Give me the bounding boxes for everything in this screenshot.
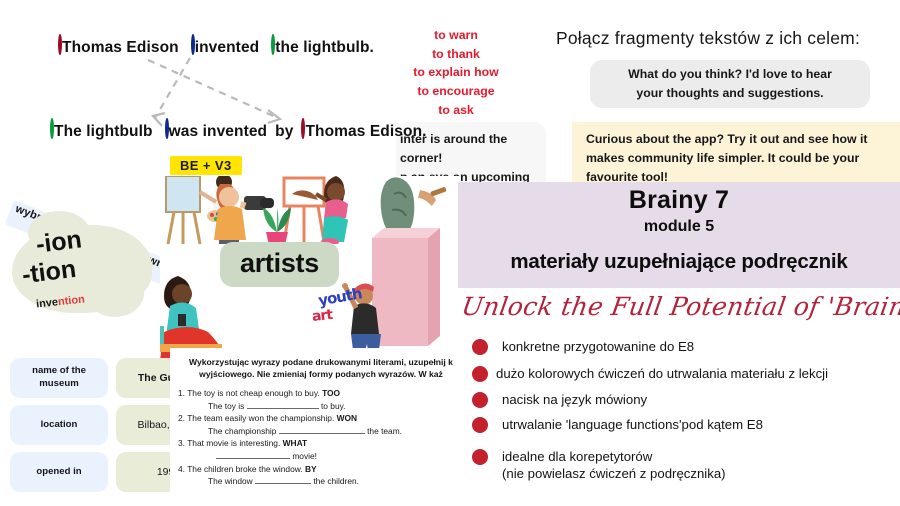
- purpose-item: to ask: [396, 101, 516, 120]
- fragment-line: What do you think? I'd love to hear: [628, 65, 832, 84]
- feature-label: dużo kolorowych ćwiczeń do utrwalania ma…: [496, 366, 828, 381]
- bullet-dot-icon: [472, 417, 488, 433]
- bullet-dot-icon: [472, 366, 488, 382]
- suffix-ion: -ion: [34, 225, 83, 259]
- worksheet-answer: The window the children.: [178, 475, 464, 488]
- brainy-title: Brainy 7: [458, 186, 900, 215]
- feature-item: idealne dla korepetytorów (nie powielasz…: [470, 448, 900, 483]
- feature-label: utrwalanie 'language functions'pod kątem…: [502, 417, 763, 432]
- passive-sentence: The lightbulbwas inventedbyThomas Edison…: [44, 122, 433, 142]
- artists-collage: artists youth art: [160, 176, 460, 358]
- active-subject-text: Thomas Edison: [62, 39, 179, 56]
- bullet-dot-icon: [472, 449, 488, 465]
- slide-canvas: Thomas Edisoninventedthe lightbulb. The …: [0, 0, 900, 506]
- item-prompt: That movie is interesting.: [187, 438, 280, 448]
- item-prompt: The team easily won the championship.: [187, 413, 334, 423]
- feature-label: idealne dla korepetytorów: [502, 449, 652, 464]
- passive-by-word: by: [273, 122, 295, 142]
- brainy-subtitle: materiały uzupełniające podręcznik: [458, 250, 900, 274]
- fragment-line: Curious about the app? Try it out and se…: [586, 130, 886, 149]
- item-number: 4.: [178, 464, 185, 474]
- feature-label: nacisk na język mówiony: [502, 392, 647, 407]
- purpose-item: to thank: [396, 45, 516, 64]
- table-key: opened in: [10, 452, 108, 492]
- active-sentence: Thomas Edisoninventedthe lightbulb.: [52, 38, 380, 58]
- plant-illustration: [260, 202, 294, 246]
- passive-verb-chunk: was invented: [159, 122, 274, 142]
- passive-agent-chunk: Thomas Edison.: [295, 122, 432, 142]
- item-number: 1.: [178, 388, 185, 398]
- answer-pre: The championship: [208, 426, 276, 436]
- purpose-list: to warn to thank to explain how to encou…: [396, 26, 516, 119]
- bullet-dot-icon: [472, 392, 488, 408]
- feature-label: konkretne przygotowanine do E8: [502, 339, 694, 354]
- worksheet-item: 3. That movie is interesting. WHAT: [178, 437, 464, 450]
- passive-subject-chunk: The lightbulb: [44, 122, 159, 142]
- answer-post: the team.: [367, 426, 402, 436]
- item-number: 2.: [178, 413, 185, 423]
- answer-post: movie!: [292, 451, 317, 461]
- worksheet-instruction: Wykorzystując wyrazy podane drukowanymi …: [178, 356, 464, 381]
- table-key: name of the museum: [10, 358, 108, 398]
- active-object-chunk: the lightbulb.: [265, 38, 380, 58]
- worksheet-answer: movie!: [178, 450, 464, 463]
- answer-post: the children.: [313, 476, 359, 486]
- instruction-line-1: Wykorzystując wyrazy podane drukowanymi …: [189, 357, 453, 367]
- be-v3-badge: BE + V3: [170, 156, 242, 175]
- answer-pre: The toy is: [208, 401, 244, 411]
- item-keyword: BY: [305, 464, 317, 474]
- item-number: 3.: [178, 438, 185, 448]
- worksheet-card: Wykorzystując wyrazy podane drukowanymi …: [170, 348, 470, 506]
- answer-blank[interactable]: [279, 425, 365, 434]
- item-prompt: The children broke the window.: [187, 464, 302, 474]
- passive-subject-text: The lightbulb: [54, 123, 153, 140]
- instruction-line-2: wyjściowego. Nie zmieniaj formy podanych…: [199, 369, 443, 379]
- passive-voice-diagram: Thomas Edisoninventedthe lightbulb. The …: [40, 18, 390, 168]
- worksheet-item: 4. The children broke the window. BY: [178, 463, 464, 476]
- brainy-module: module 5: [458, 218, 900, 236]
- item-keyword: WON: [337, 413, 357, 423]
- answer-pre: The window: [208, 476, 253, 486]
- worksheet-answer: The championship the team.: [178, 425, 464, 438]
- active-verb-text: invented: [195, 39, 260, 56]
- active-subject-chunk: Thomas Edison: [52, 38, 185, 58]
- purpose-item: to warn: [396, 26, 516, 45]
- answer-post: to buy.: [321, 401, 346, 411]
- feature-sublabel: (nie powielasz ćwiczeń z podręcznika): [502, 465, 900, 482]
- feature-item: utrwalanie 'language functions'pod kątem…: [470, 416, 900, 433]
- graffiti-art-text: art: [311, 307, 333, 325]
- feature-item: dużo kolorowych ćwiczeń do utrwalania ma…: [470, 365, 900, 382]
- active-verb-chunk: invented: [185, 38, 266, 58]
- item-keyword: TOO: [322, 388, 340, 398]
- answer-blank[interactable]: [255, 475, 311, 484]
- passive-verb-text: was invented: [169, 123, 268, 140]
- passive-agent-text: Thomas Edison.: [305, 123, 426, 140]
- table-key: location: [10, 405, 108, 445]
- example-stem: inve: [36, 296, 59, 310]
- feature-list: konkretne przygotowanine do E8 dużo kolo…: [470, 338, 900, 493]
- answer-blank[interactable]: [247, 400, 319, 409]
- active-object-text: the lightbulb.: [275, 39, 374, 56]
- answer-blank[interactable]: [216, 450, 290, 459]
- fragment-line: makes community life simpler. It could b…: [586, 149, 886, 168]
- fragment-line: your thoughts and suggestions.: [628, 84, 832, 103]
- purpose-item: to explain how: [396, 63, 516, 82]
- worksheet-answer: The toy is to buy.: [178, 400, 464, 413]
- item-prompt: The toy is not cheap enough to buy.: [187, 388, 320, 398]
- fragment-card-yellow: Curious about the app? Try it out and se…: [572, 122, 900, 184]
- worksheet-item: 2. The team easily won the championship.…: [178, 412, 464, 425]
- purpose-item: to encourage: [396, 82, 516, 101]
- fragment-card-gray: What do you think? I'd love to hear your…: [590, 60, 870, 108]
- feature-item: nacisk na język mówiony: [470, 391, 900, 408]
- worksheet-item: 1. The toy is not cheap enough to buy. T…: [178, 387, 464, 400]
- feature-item: konkretne przygotowanine do E8: [470, 338, 900, 355]
- matching-heading: Połącz fragmenty tekstów z ich celem:: [516, 28, 900, 49]
- artists-chip: artists: [220, 242, 339, 287]
- item-keyword: WHAT: [283, 438, 308, 448]
- brainy-tagline: Unlock the Full Potential of 'Brainy': [460, 292, 900, 321]
- bullet-dot-icon: [472, 339, 488, 355]
